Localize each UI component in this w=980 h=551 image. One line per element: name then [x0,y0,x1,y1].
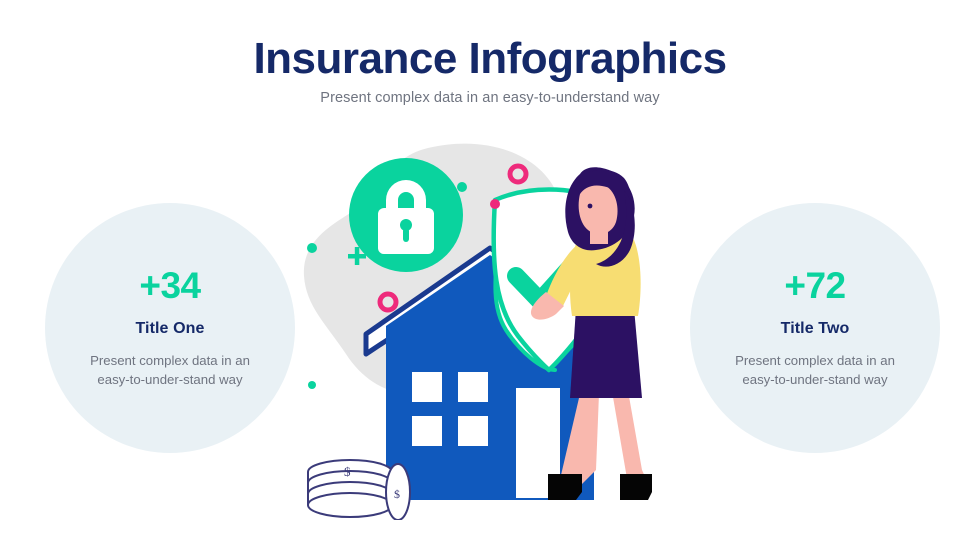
house-window [412,416,442,446]
house-window [458,372,488,402]
teal-dot [308,381,316,389]
coin-stack-icon: $ $ [308,460,410,520]
page-title: Insurance Infographics [0,36,980,82]
coin-dollar-sign: $ [344,464,351,479]
eye [588,204,593,209]
stat-title-one: Title One [135,320,204,338]
stat-value-one: +34 [139,267,200,304]
house-window [458,416,488,446]
coin [308,493,392,517]
boot-left [548,474,582,500]
insurance-illustration: $ $ [290,140,690,520]
house-window [412,372,442,402]
boot-right [620,474,652,500]
page-subtitle: Present complex data in an easy-to-under… [0,90,980,106]
skirt [570,308,642,398]
stat-circle-two[interactable]: +72 Title Two Present complex data in an… [690,203,940,453]
neck [590,230,608,244]
lock-badge-icon [349,158,463,272]
stat-description-two: Present complex data in an easy-to-under… [728,351,903,389]
pink-dot [490,199,500,209]
teal-dot [457,182,467,192]
stat-value-two: +72 [784,267,845,304]
stat-title-two: Title Two [781,320,850,338]
coin-dollar-sign: $ [394,487,400,501]
stat-circle-one[interactable]: +34 Title One Present complex data in an… [45,203,295,453]
stat-description-one: Present complex data in an easy-to-under… [83,351,258,389]
teal-dot [307,243,317,253]
slide-canvas: Insurance Infographics Present complex d… [0,0,980,551]
slide-header: Insurance Infographics Present complex d… [0,36,980,106]
